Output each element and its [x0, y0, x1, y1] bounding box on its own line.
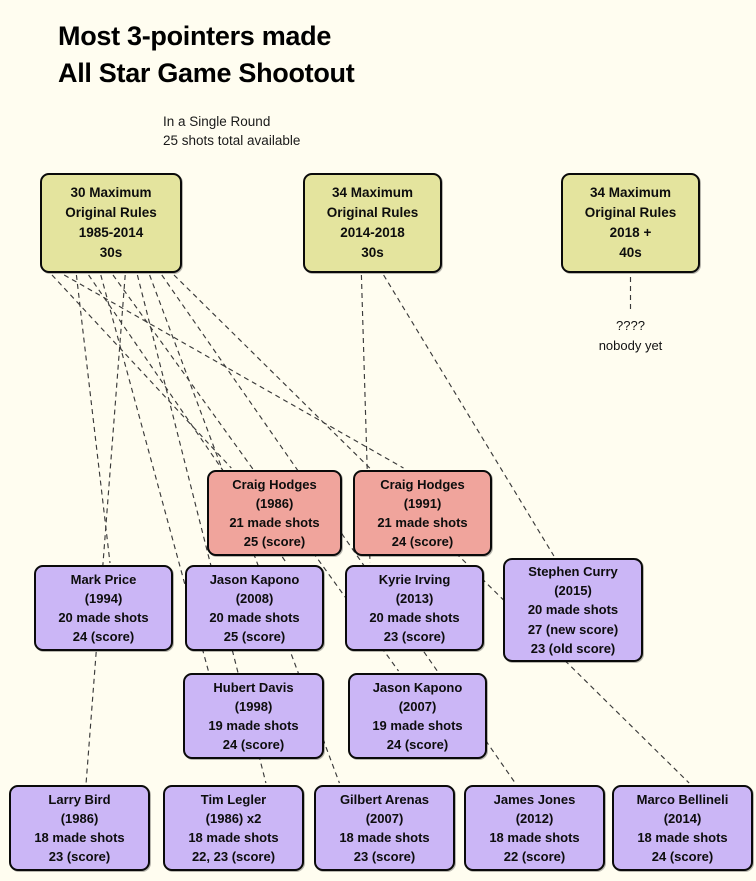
record-player: Tim Legler [201, 790, 267, 809]
record-box-kyrie-irving-2013[interactable]: Kyrie Irving (2013) 20 made shots 23 (sc… [345, 565, 484, 651]
record-made: 18 made shots [637, 828, 727, 847]
record-year: (2007) [399, 697, 437, 716]
record-year: (1986) [61, 809, 99, 828]
record-player: Jason Kapono [210, 570, 300, 589]
record-player: Marco Bellineli [637, 790, 729, 809]
rules-box-1985-2014[interactable]: 30 Maximum Original Rules 1985-2014 30s [40, 173, 182, 273]
record-made: 20 made shots [209, 608, 299, 627]
rules-box-2018-plus[interactable]: 34 Maximum Original Rules 2018 + 40s [561, 173, 700, 273]
record-box-craig-hodges-1986[interactable]: Craig Hodges (1986) 21 made shots 25 (sc… [207, 470, 342, 556]
record-score: 24 (score) [73, 627, 134, 646]
record-player: Jason Kapono [373, 678, 463, 697]
record-box-gilbert-arenas-2007[interactable]: Gilbert Arenas (2007) 18 made shots 23 (… [314, 785, 455, 871]
record-score: 23 (score) [384, 627, 445, 646]
diagram-canvas: Most 3-pointers made All Star Game Shoot… [0, 0, 756, 881]
record-player: Mark Price [71, 570, 137, 589]
empty-note-line-2: nobody yet [561, 336, 700, 356]
record-made: 20 made shots [528, 600, 618, 619]
record-score: 22, 23 (score) [192, 847, 275, 866]
record-year: (2015) [554, 581, 592, 600]
record-score: 24 (score) [387, 735, 448, 754]
rules-years: 1985-2014 [79, 223, 144, 243]
record-year: (1986) [256, 494, 294, 513]
record-score: 25 (score) [244, 532, 305, 551]
rules-max: 34 Maximum [590, 183, 671, 203]
record-player: James Jones [494, 790, 576, 809]
record-box-marco-bellineli-2014[interactable]: Marco Bellineli (2014) 18 made shots 24 … [612, 785, 753, 871]
rules-years: 2018 + [610, 223, 652, 243]
rules-ruleset: Original Rules [65, 203, 157, 223]
record-player: Kyrie Irving [379, 570, 451, 589]
record-box-hubert-davis-1998[interactable]: Hubert Davis (1998) 19 made shots 24 (sc… [183, 673, 324, 759]
record-score: 22 (score) [504, 847, 565, 866]
rules-max: 34 Maximum [332, 183, 413, 203]
record-made: 18 made shots [339, 828, 429, 847]
record-made: 21 made shots [377, 513, 467, 532]
rules-ruleset: Original Rules [327, 203, 419, 223]
record-made: 18 made shots [188, 828, 278, 847]
record-player: Hubert Davis [213, 678, 293, 697]
record-box-craig-hodges-1991[interactable]: Craig Hodges (1991) 21 made shots 24 (sc… [353, 470, 492, 556]
record-made: 18 made shots [34, 828, 124, 847]
record-made: 20 made shots [58, 608, 148, 627]
rules-clock: 40s [619, 243, 642, 263]
record-year: (1991) [404, 494, 442, 513]
record-player: Stephen Curry [528, 562, 618, 581]
rules-clock: 30s [100, 243, 123, 263]
record-player: Craig Hodges [380, 475, 465, 494]
page-subtitle: In a Single Round 25 shots total availab… [0, 112, 756, 150]
record-score: 23 (score) [354, 847, 415, 866]
record-box-mark-price-1994[interactable]: Mark Price (1994) 20 made shots 24 (scor… [34, 565, 173, 651]
title-line-2: All Star Game Shootout [0, 55, 756, 92]
record-box-tim-legler-1986[interactable]: Tim Legler (1986) x2 18 made shots 22, 2… [163, 785, 304, 871]
record-box-stephen-curry-2015[interactable]: Stephen Curry (2015) 20 made shots 27 (n… [503, 558, 643, 662]
record-score: 23 (score) [49, 847, 110, 866]
rules-years: 2014-2018 [340, 223, 405, 243]
record-box-james-jones-2012[interactable]: James Jones (2012) 18 made shots 22 (sco… [464, 785, 605, 871]
record-player: Larry Bird [48, 790, 110, 809]
title-line-1: Most 3-pointers made [0, 18, 756, 55]
rules-clock: 30s [361, 243, 384, 263]
empty-note-line-1: ???? [561, 316, 700, 336]
record-score: 24 (score) [223, 735, 284, 754]
record-year: (2014) [664, 809, 702, 828]
record-made: 19 made shots [372, 716, 462, 735]
record-year: (2012) [516, 809, 554, 828]
page-title: Most 3-pointers made All Star Game Shoot… [0, 18, 756, 93]
subtitle-line-1: In a Single Round [0, 112, 756, 131]
record-score-old: 23 (old score) [531, 639, 616, 658]
rules-box-2014-2018[interactable]: 34 Maximum Original Rules 2014-2018 30s [303, 173, 442, 273]
record-made: 18 made shots [489, 828, 579, 847]
record-made: 20 made shots [369, 608, 459, 627]
record-year: (2013) [396, 589, 434, 608]
record-score-new: 27 (new score) [528, 620, 618, 639]
record-made: 21 made shots [229, 513, 319, 532]
rules-max: 30 Maximum [70, 183, 151, 203]
record-box-jason-kapono-2008[interactable]: Jason Kapono (2008) 20 made shots 25 (sc… [185, 565, 324, 651]
record-player: Gilbert Arenas [340, 790, 429, 809]
record-made: 19 made shots [208, 716, 298, 735]
record-year: (1986) x2 [206, 809, 262, 828]
record-score: 25 (score) [224, 627, 285, 646]
record-player: Craig Hodges [232, 475, 317, 494]
record-year: (2007) [366, 809, 404, 828]
record-year: (2008) [236, 589, 274, 608]
record-box-jason-kapono-2007[interactable]: Jason Kapono (2007) 19 made shots 24 (sc… [348, 673, 487, 759]
record-year: (1994) [85, 589, 123, 608]
subtitle-line-2: 25 shots total available [0, 131, 756, 150]
record-box-larry-bird-1986[interactable]: Larry Bird (1986) 18 made shots 23 (scor… [9, 785, 150, 871]
empty-record-note: ???? nobody yet [561, 316, 700, 355]
rules-ruleset: Original Rules [585, 203, 677, 223]
record-year: (1998) [235, 697, 273, 716]
record-score: 24 (score) [392, 532, 453, 551]
record-score: 24 (score) [652, 847, 713, 866]
